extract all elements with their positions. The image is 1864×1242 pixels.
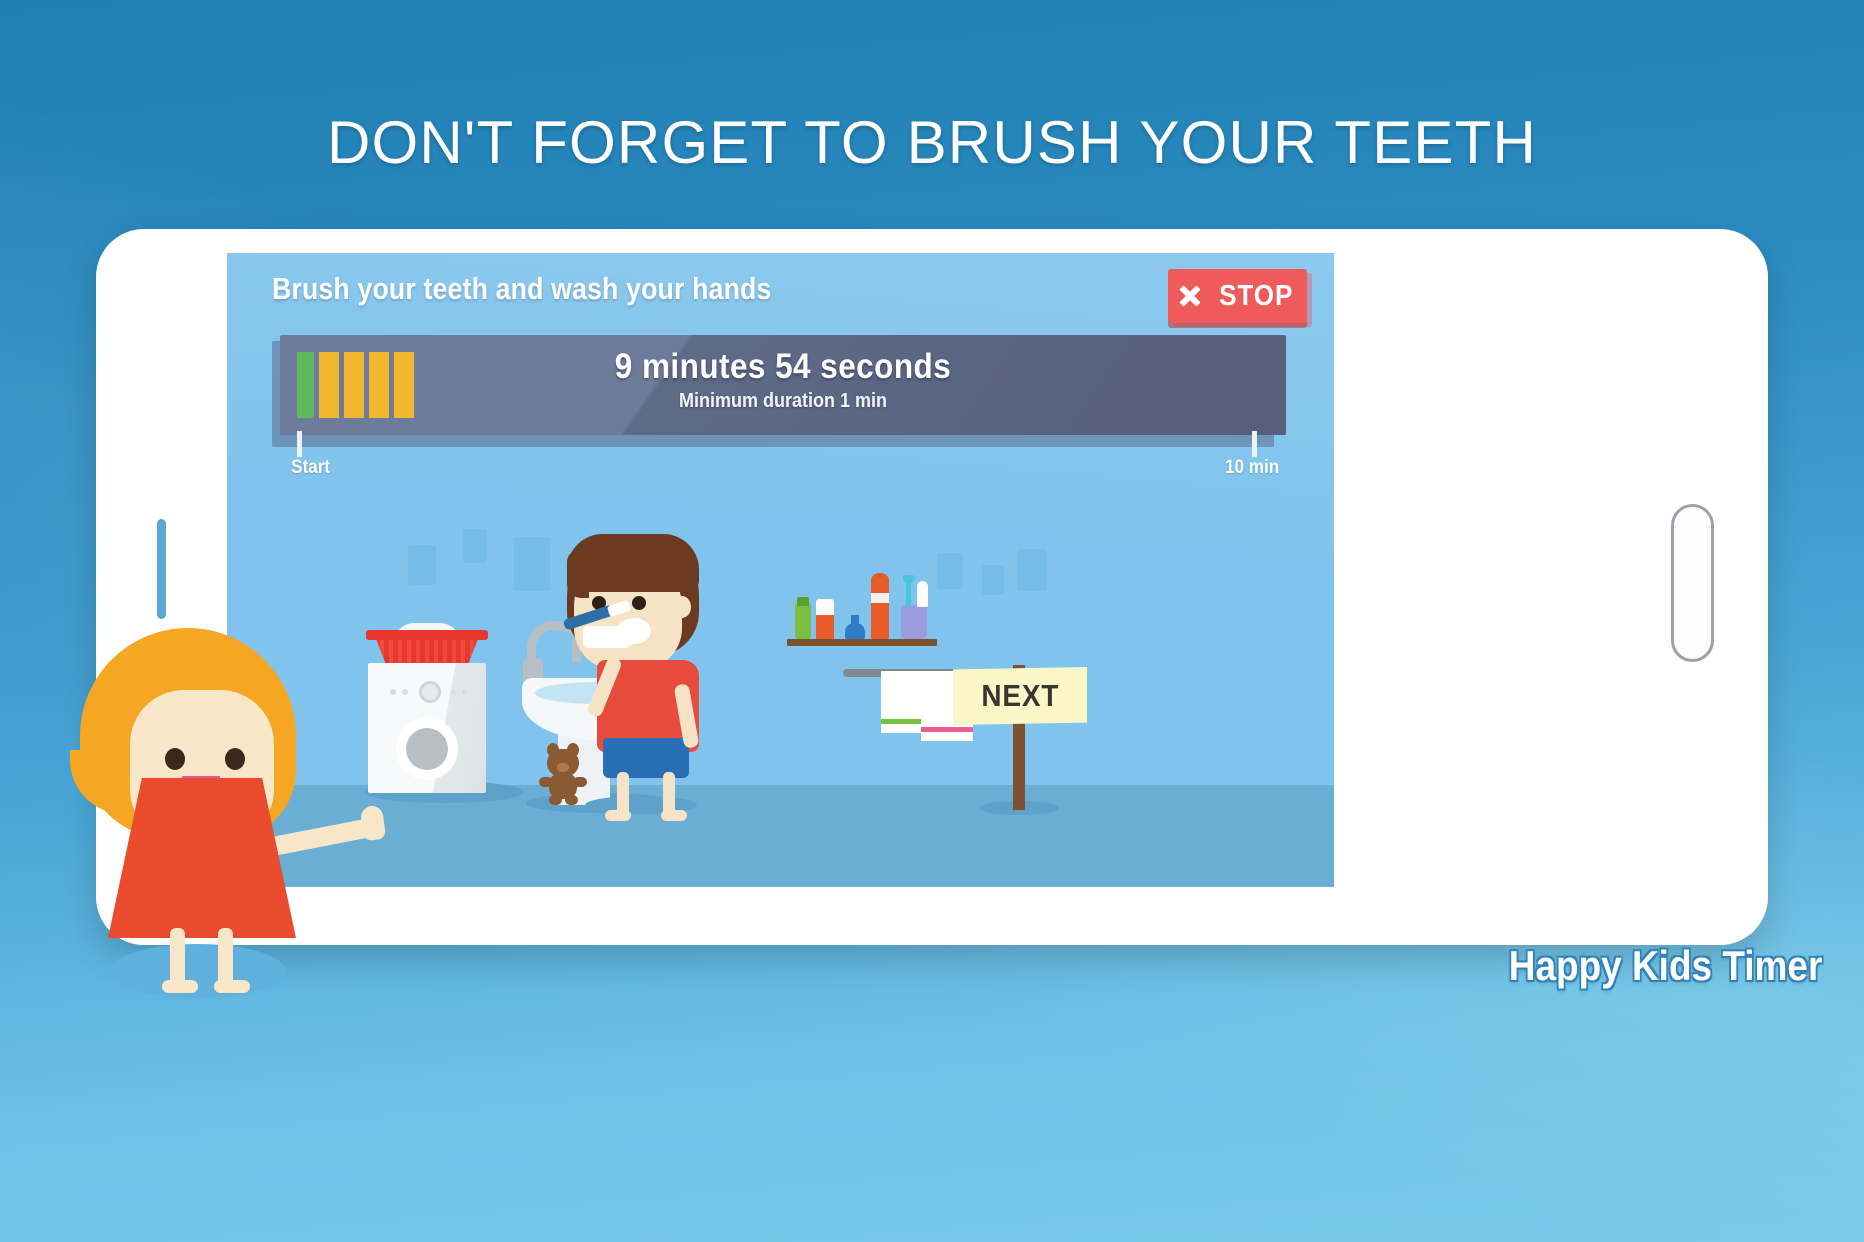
wall-tile: [463, 529, 487, 563]
girl-foot: [214, 980, 250, 993]
minimum-segment: [297, 352, 314, 418]
progress-segment-1: [319, 352, 339, 418]
wall-tile: [937, 553, 963, 589]
task-title: Brush your teeth and wash your hands: [272, 271, 771, 307]
end-tick: [1252, 431, 1257, 457]
end-label: 10 min: [1225, 457, 1279, 479]
girl-hand: [360, 805, 387, 842]
boy-shorts: [603, 738, 689, 778]
bottle-label-icon: [816, 615, 834, 639]
progress-segment-4: [394, 352, 414, 418]
boy-brushing-teeth: [545, 534, 761, 816]
boy-foot: [605, 810, 631, 821]
tube-band-icon: [871, 593, 889, 603]
progress-track: [297, 352, 1269, 418]
toothpaste-foam: [617, 618, 651, 644]
page-title: DON'T FORGET TO BRUSH YOUR TEETH: [0, 108, 1864, 177]
start-tick: [297, 431, 302, 457]
home-button[interactable]: [1671, 504, 1714, 662]
girl-foot: [162, 980, 198, 993]
stop-button[interactable]: STOP: [1168, 269, 1307, 323]
white-tube-icon: [917, 581, 928, 607]
girl-eye: [165, 748, 185, 770]
next-button[interactable]: NEXT: [953, 667, 1087, 725]
boy-hair-sideburn: [567, 550, 589, 598]
girl-shadow: [110, 944, 286, 998]
blue-jar-icon: [845, 623, 865, 639]
green-bottle-icon: [795, 603, 811, 639]
washer-door-glass: [406, 728, 448, 770]
progress-segment-3: [369, 352, 389, 418]
next-button-label: NEXT: [981, 678, 1059, 714]
progress-segment-2: [344, 352, 364, 418]
progress-panel: 9 minutes 54 seconds Minimum duration 1 …: [280, 335, 1286, 435]
timer-progress-area[interactable]: 9 minutes 54 seconds Minimum duration 1 …: [272, 335, 1286, 447]
toothbrush-cup-icon: [901, 605, 927, 639]
toothbrush-in-cup-icon: [906, 579, 911, 607]
boy-eye: [632, 596, 646, 610]
towel-stripe: [921, 727, 973, 732]
wall-tile: [982, 565, 1004, 595]
orange-tube-icon: [871, 573, 889, 639]
stop-button-label: STOP: [1219, 280, 1293, 313]
wall-tile: [1017, 549, 1047, 591]
girl-mascot: [70, 628, 400, 998]
green-bottle-cap-icon: [797, 597, 809, 606]
wall-tile: [408, 545, 436, 585]
washer-indicator: [462, 689, 468, 695]
washer-indicator: [450, 689, 456, 695]
washer-knob: [419, 681, 441, 703]
speaker-slit-icon: [157, 519, 166, 619]
boy-foot: [661, 810, 687, 821]
close-x-icon: [1178, 284, 1202, 308]
app-branding: Happy Kids Timer: [1508, 942, 1822, 990]
girl-eye: [225, 748, 245, 770]
start-label: Start: [291, 457, 330, 479]
washer-indicator: [402, 689, 408, 695]
bathroom-shelf: [787, 639, 937, 646]
blue-jar-neck-icon: [851, 615, 859, 625]
toothbrush-bristles-icon: [903, 575, 914, 582]
